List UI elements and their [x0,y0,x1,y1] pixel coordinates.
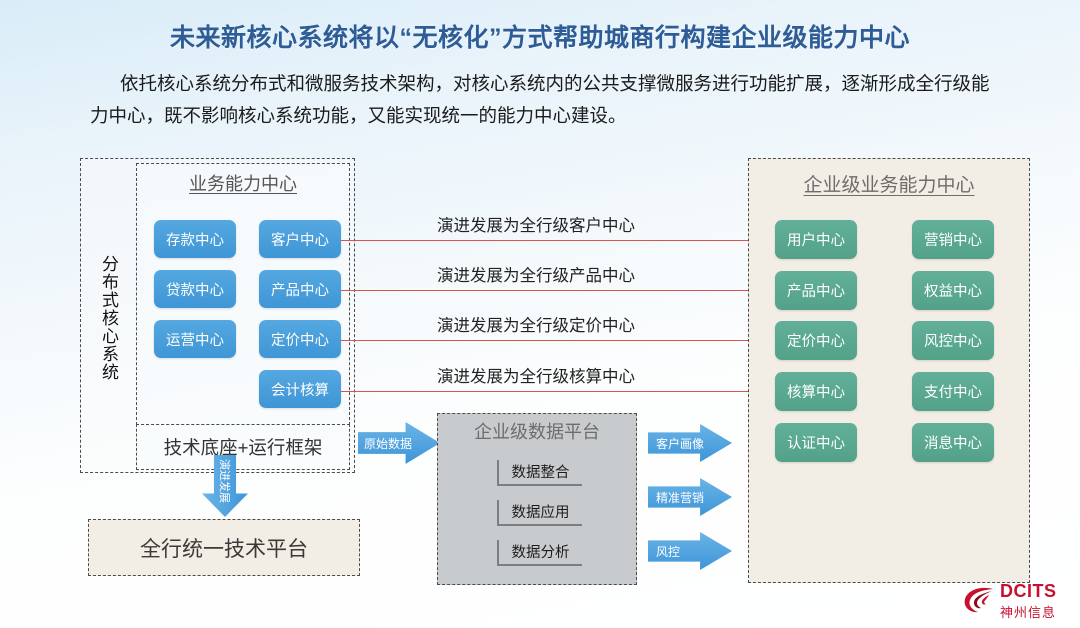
outbound-arrow-customer-profile-label: 客户画像 [656,435,704,452]
evolution-label-accounting: 演进发展为全行级核算中心 [437,363,635,387]
capability-box-product[interactable]: 产品中心 [259,270,341,308]
evolution-label-pricing: 演进发展为全行级定价中心 [437,312,635,336]
enterprise-box-pricing[interactable]: 定价中心 [775,321,857,360]
outbound-arrow-risk-control-label: 风控 [656,543,680,560]
data-platform-item-application[interactable]: 数据应用 [497,500,582,526]
page-subtitle: 依托核心系统分布式和微服务技术架构，对核心系统内的公共支撑微服务进行功能扩展，逐… [90,68,1000,133]
data-platform-title: 企业级数据平台 [437,418,637,444]
unified-tech-platform-label: 全行统一技术平台 [88,519,360,576]
raw-data-arrow-label: 原始数据 [364,435,412,452]
capability-box-operation[interactable]: 运营中心 [154,320,236,358]
enterprise-box-risk[interactable]: 风控中心 [912,321,994,360]
capability-box-loan[interactable]: 贷款中心 [154,270,236,308]
tech-base-label: 技术底座+运行框架 [136,424,350,470]
company-logo: DCITS 神州信息 [962,580,1074,622]
outbound-arrow-precision-marketing-label: 精准营销 [656,489,704,506]
enterprise-box-marketing[interactable]: 营销中心 [912,220,994,259]
capability-box-deposit[interactable]: 存款中心 [154,220,236,258]
page-title: 未来新核心系统将以“无核化”方式帮助城商行构建企业级能力中心 [0,18,1080,54]
enterprise-box-rights[interactable]: 权益中心 [912,271,994,310]
enterprise-box-auth[interactable]: 认证中心 [775,423,857,462]
evolution-label-customer: 演进发展为全行级客户中心 [437,212,635,236]
capability-box-customer[interactable]: 客户中心 [259,220,341,258]
data-platform-item-analysis[interactable]: 数据分析 [497,540,582,566]
enterprise-box-message[interactable]: 消息中心 [912,423,994,462]
enterprise-box-user[interactable]: 用户中心 [775,220,857,259]
evolution-arrow-accounting [341,391,765,392]
evolution-label-product: 演进发展为全行级产品中心 [437,262,635,286]
evolution-arrow-pricing [341,340,765,341]
capability-box-accounting[interactable]: 会计核算 [259,370,341,408]
dcits-swirl-icon [962,584,996,616]
enterprise-box-payment[interactable]: 支付中心 [912,372,994,411]
evolution-arrow-customer [341,240,765,241]
data-platform-item-integration[interactable]: 数据整合 [497,460,582,486]
enterprise-box-product[interactable]: 产品中心 [775,271,857,310]
slide-canvas: 未来新核心系统将以“无核化”方式帮助城商行构建企业级能力中心 依托核心系统分布式… [0,0,1080,628]
outbound-arrow-precision-marketing: 精准营销 [648,478,732,516]
raw-data-arrow: 原始数据 [358,422,440,464]
evolution-down-arrow-label: 演进发展 [217,459,233,503]
logo-text-en: DCITS [1000,581,1057,602]
outbound-arrow-customer-profile: 客户画像 [648,424,732,462]
outbound-arrow-risk-control: 风控 [648,532,732,570]
enterprise-box-accounting[interactable]: 核算中心 [775,372,857,411]
enterprise-capability-title: 企业级业务能力中心 [748,170,1030,197]
logo-text-cn: 神州信息 [1000,602,1056,621]
distributed-core-label: 分布式核心系统 [88,215,128,420]
capability-box-pricing[interactable]: 定价中心 [259,320,341,358]
evolution-arrow-product [341,290,765,291]
business-capability-center-title: 业务能力中心 [136,170,350,196]
